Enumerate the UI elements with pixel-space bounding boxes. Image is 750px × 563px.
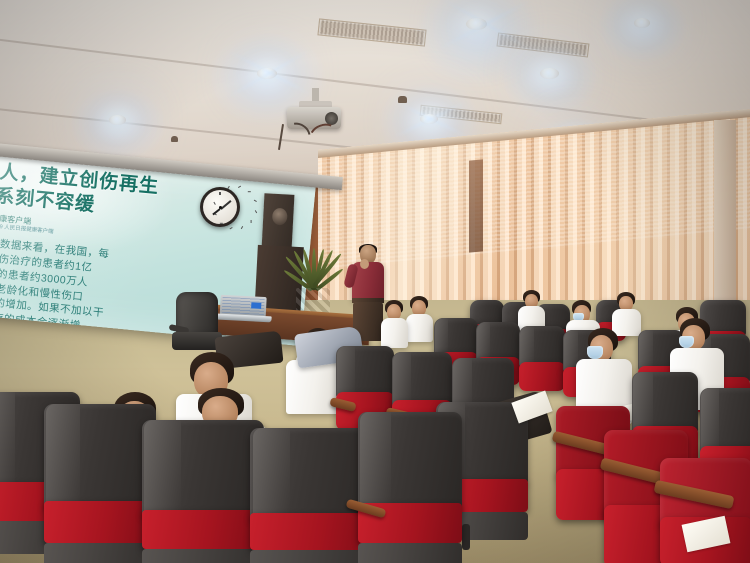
clock-tick <box>214 201 217 204</box>
clock-center-pin <box>219 206 222 209</box>
curtain-opening <box>469 159 483 252</box>
seat-edge-trim <box>435 318 448 356</box>
seat-edge-trim <box>144 420 181 516</box>
auditorium-seat[interactable] <box>44 404 156 563</box>
seat-edge-trim <box>360 412 391 509</box>
presenter-laptop[interactable] <box>215 295 274 326</box>
clock-tick <box>219 192 220 195</box>
seat-base <box>44 543 156 563</box>
seat-edge-trim <box>393 352 411 407</box>
conference-room-photo: 亿人，建立创伤再生 体系刻不容缓 日报健康客户端 2021-10-29 人民日报… <box>0 0 750 563</box>
seat-cushion <box>142 510 264 549</box>
seat-edge-trim <box>520 326 534 367</box>
ceiling-downlight <box>420 114 438 124</box>
seat-base <box>142 549 264 563</box>
clock-tick <box>248 191 251 192</box>
clock-tick <box>220 222 223 223</box>
ceiling-downlight <box>540 68 559 79</box>
auditorium-seat[interactable] <box>519 326 565 390</box>
ceiling-downlight <box>634 18 650 28</box>
wall-clock <box>200 187 240 227</box>
laptop-screen-highlight <box>251 302 261 309</box>
face-mask <box>587 346 603 359</box>
seat-edge-trim <box>337 346 354 398</box>
ceiling-downlight <box>257 68 277 79</box>
ceiling-downlight <box>109 115 126 125</box>
audience-member <box>518 290 548 330</box>
auditorium-seat[interactable] <box>142 420 264 563</box>
ceiling-downlight <box>466 18 487 30</box>
seat-cushion <box>44 501 156 543</box>
seat-edge-trim <box>633 372 653 433</box>
clock-face <box>203 190 237 224</box>
smoke-detector-icon <box>171 136 178 142</box>
seat-edge-trim <box>253 428 291 519</box>
seat-leg <box>462 524 470 550</box>
presenter-hand <box>360 259 369 269</box>
speaker-cone-icon <box>272 208 288 226</box>
person-lab-coat <box>381 318 408 348</box>
audience-member <box>381 300 411 348</box>
seat-edge-trim <box>701 388 719 455</box>
seat-edge-trim <box>46 404 80 508</box>
laptop-screen[interactable] <box>222 297 265 315</box>
seat-edge-trim <box>477 322 490 362</box>
seat-edge-trim <box>0 392 15 488</box>
seat-base <box>358 543 462 563</box>
seat-edge-trim <box>639 330 653 371</box>
ceiling-projector <box>281 88 351 148</box>
seat-cushion <box>519 362 565 391</box>
smoke-detector-icon <box>398 96 407 103</box>
auditorium-seat[interactable] <box>358 412 462 563</box>
